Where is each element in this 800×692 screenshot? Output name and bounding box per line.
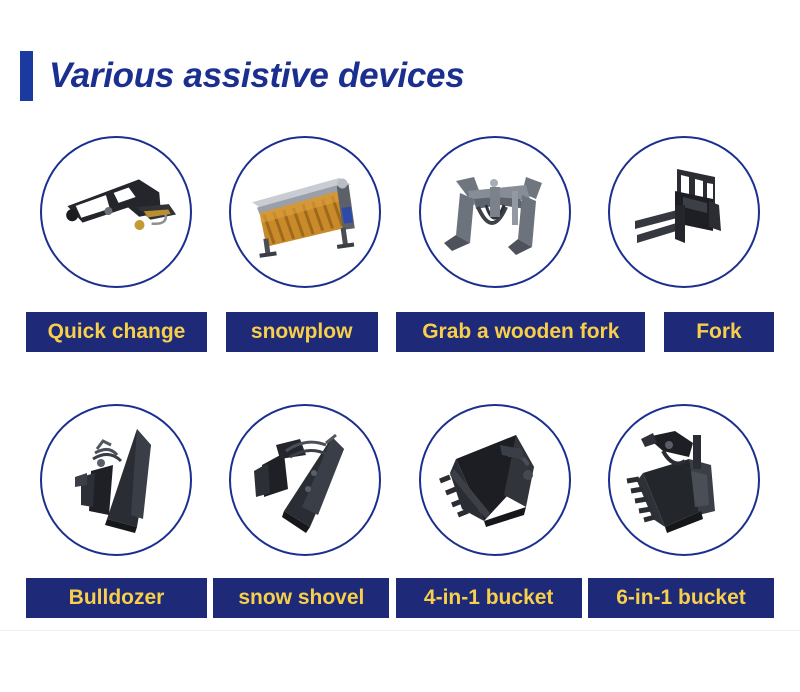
log-grapple-icon [430,147,560,277]
image-circle [229,404,381,556]
image-circle [229,136,381,288]
dozer-blade-icon [51,415,181,545]
assistive-devices-page: Various assistive devices [0,0,800,692]
product-card-bulldozer[interactable] [26,400,206,560]
product-label-quick-change[interactable]: Quick change [26,312,207,352]
product-label-snow-shovel[interactable]: snow shovel [213,578,389,618]
product-label-list-row-1: Quick change snowplow Grab a wooden fork… [0,312,800,352]
product-label-list-row-2: Bulldozer snow shovel 4-in-1 bucket 6-in… [0,578,800,618]
bottom-divider [0,630,800,631]
product-label-bulldozer[interactable]: Bulldozer [26,578,207,618]
image-circle [419,404,571,556]
image-circle [608,136,760,288]
product-card-snowplow[interactable] [215,132,395,292]
product-card-snow-shovel[interactable] [215,400,395,560]
product-card-fork[interactable] [594,132,774,292]
product-card-quick-change[interactable] [26,132,206,292]
image-circle [608,404,760,556]
product-label-snowplow[interactable]: snowplow [226,312,378,352]
product-card-6-in-1-bucket[interactable] [594,400,774,560]
product-card-4-in-1-bucket[interactable] [405,400,585,560]
product-label-6-in-1-bucket[interactable]: 6-in-1 bucket [588,578,774,618]
six-in-one-grapple-bucket-icon [619,415,749,545]
product-label-grab-a-wooden-fork[interactable]: Grab a wooden fork [396,312,645,352]
product-label-fork[interactable]: Fork [664,312,774,352]
page-title: Various assistive devices [49,56,464,96]
four-in-one-bucket-icon [430,415,560,545]
quick-change-coupler-icon [51,147,181,277]
rotary-sweeper-brush-icon [240,147,370,277]
product-label-4-in-1-bucket[interactable]: 4-in-1 bucket [396,578,582,618]
image-circle [40,404,192,556]
image-circle [419,136,571,288]
product-card-grab-a-wooden-fork[interactable] [405,132,585,292]
pallet-fork-icon [619,147,749,277]
product-row-2 [0,400,800,560]
snow-blade-icon [240,415,370,545]
product-card-list-row-2 [0,400,800,560]
page-header: Various assistive devices [0,40,800,112]
title-accent-bar [20,51,33,101]
product-row-1 [0,132,800,292]
image-circle [40,136,192,288]
product-card-list-row-1 [0,132,800,292]
